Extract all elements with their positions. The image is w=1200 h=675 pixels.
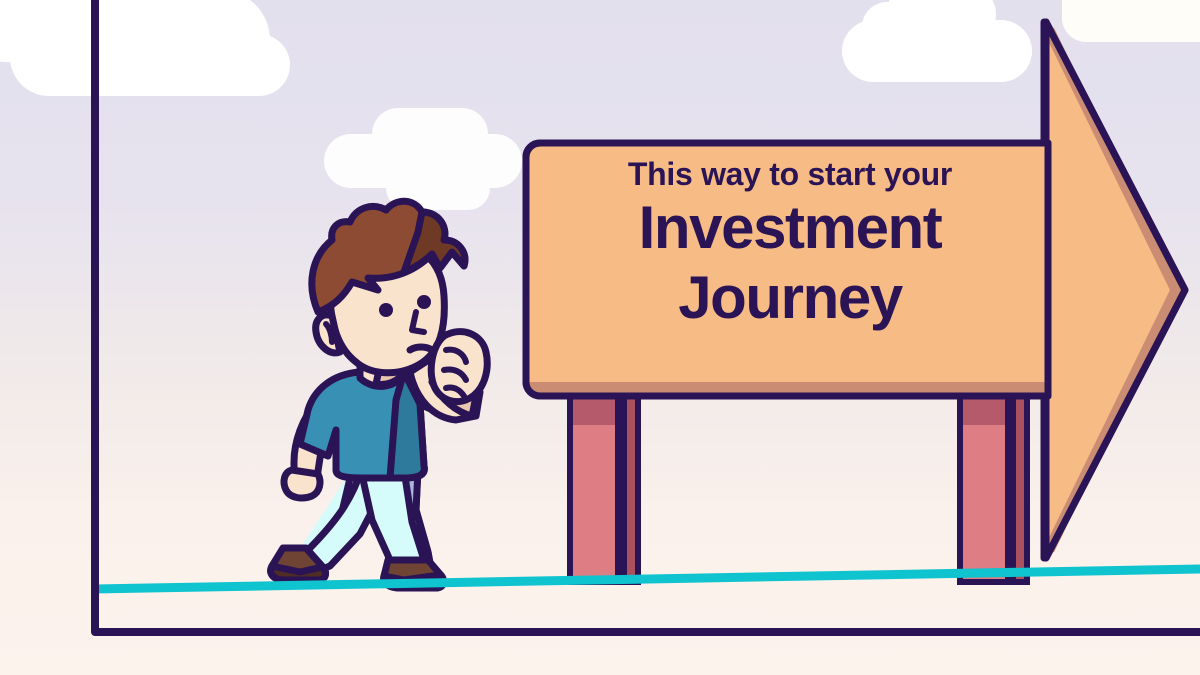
illustration-scene: This way to start your Investment Journe… bbox=[0, 0, 1200, 675]
corner-frame bbox=[95, 0, 1200, 632]
ground-line bbox=[95, 569, 1200, 589]
ground-and-frame bbox=[0, 0, 1200, 675]
